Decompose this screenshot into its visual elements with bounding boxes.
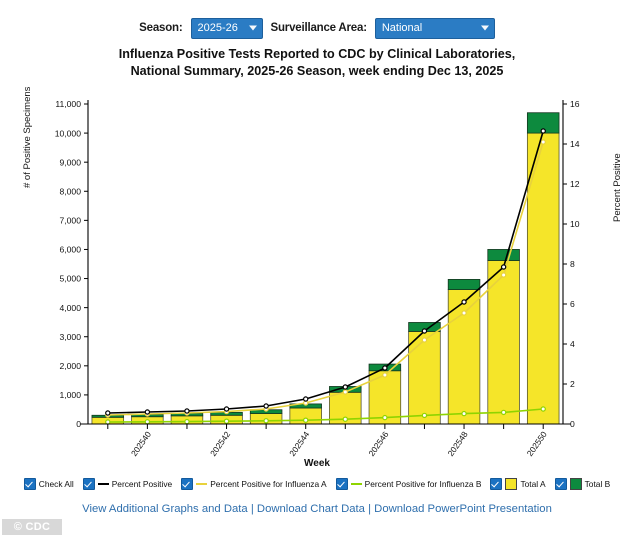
legend-item-total-a[interactable]: Total A [490, 478, 545, 490]
cdc-watermark-text: © CDC [14, 521, 51, 533]
download-powerpoint-link[interactable]: Download PowerPoint Presentation [374, 503, 552, 515]
legend-line-swatch [98, 483, 109, 485]
influenza-b-percent-line-point [224, 419, 228, 423]
legend-item-percent-positive-for-influenza-b[interactable]: Percent Positive for Influenza B [336, 478, 482, 490]
legend-checkbox[interactable] [181, 478, 193, 490]
legend-item-label: Percent Positive for Influenza B [365, 479, 482, 489]
influenza-b-percent-line-point [422, 413, 426, 417]
legend-item-check-all[interactable]: Check All [24, 478, 74, 490]
influenza-a-percent-line-point [422, 338, 426, 342]
influenza-a-percent-line-point [502, 273, 506, 277]
percent-positive-line-point [185, 409, 189, 413]
bar-group-202550[interactable] [527, 113, 559, 424]
percent-positive-line-point [145, 410, 149, 414]
x-axis-tick-label: 202542 [208, 429, 232, 458]
y-axis-right-title: Percent Positive [612, 153, 623, 222]
influenza-b-percent-line-point [185, 420, 189, 424]
influenza-b-percent-line-point [343, 417, 347, 421]
influenza-b-percent-line-point [304, 418, 308, 422]
y-axis-left-tick-label: 7,000 [59, 216, 81, 226]
legend-item-total-b[interactable]: Total B [555, 478, 611, 490]
download-chart-data-link[interactable]: Download Chart Data [257, 503, 365, 515]
y-axis-right-tick-label: 14 [570, 139, 580, 149]
chart-legend: Check AllPercent PositivePercent Positiv… [0, 478, 634, 490]
legend-item-label: Check All [39, 479, 74, 489]
y-axis-left-tick-label: 9,000 [59, 157, 81, 167]
y-axis-right-tick-label: 12 [570, 179, 580, 189]
legend-checkbox[interactable] [490, 478, 502, 490]
percent-positive-line-point [264, 404, 268, 408]
influenza-a-percent-line-point [462, 311, 466, 315]
x-axis-title: Week [0, 458, 634, 469]
y-axis-left-tick-label: 11,000 [55, 99, 81, 109]
influenza-b-percent-line-point [462, 412, 466, 416]
influenza-b-percent-line-point [502, 410, 506, 414]
percent-positive-line-point [224, 407, 228, 411]
cdc-watermark: © CDC [2, 519, 62, 535]
y-axis-right-tick-label: 16 [570, 99, 580, 109]
y-axis-right-tick-label: 6 [570, 299, 575, 309]
percent-positive-line-point [502, 265, 506, 269]
y-axis-right-tick-label: 0 [570, 419, 575, 429]
legend-item-label: Total B [585, 479, 611, 489]
legend-item-percent-positive-for-influenza-a[interactable]: Percent Positive for Influenza A [181, 478, 326, 490]
legend-item-percent-positive[interactable]: Percent Positive [83, 478, 173, 490]
legend-checkbox[interactable] [83, 478, 95, 490]
influenza-b-percent-line-point [145, 420, 149, 424]
y-axis-left-tick-label: 3,000 [59, 332, 81, 342]
legend-checkbox[interactable] [336, 478, 348, 490]
y-axis-right-tick-label: 8 [570, 259, 575, 269]
legend-item-label: Total A [520, 479, 545, 489]
y-axis-right-tick-label: 2 [570, 379, 575, 389]
percent-positive-line-point [106, 411, 110, 415]
legend-item-label: Percent Positive [112, 479, 173, 489]
percent-positive-line-point [462, 300, 466, 304]
legend-checkbox[interactable] [555, 478, 567, 490]
y-axis-left-tick-label: 10,000 [55, 128, 82, 138]
percent-positive-line-point [541, 129, 545, 133]
view-additional-graphs-link[interactable]: View Additional Graphs and Data [82, 503, 248, 515]
y-axis-left-tick-label: 8,000 [59, 186, 81, 196]
y-axis-left-tick-label: 0 [76, 419, 81, 429]
x-axis-tick-label: 202546 [366, 429, 390, 458]
y-axis-right-tick-label: 10 [570, 219, 580, 229]
percent-positive-line-point [343, 385, 347, 389]
legend-color-swatch [570, 478, 582, 490]
influenza-b-percent-line-point [383, 416, 387, 420]
y-axis-left-tick-label: 1,000 [59, 390, 81, 400]
percent-positive-line-point [422, 329, 426, 333]
x-axis-tick-label: 202544 [287, 429, 311, 458]
y-axis-left-tick-label: 6,000 [59, 245, 81, 255]
percent-positive-line-point [383, 366, 387, 370]
y-axis-left-title: # of Positive Specimens [22, 87, 33, 188]
x-axis-tick-label: 202540 [129, 429, 153, 458]
link-separator-2: | [368, 503, 371, 515]
x-axis-tick-label: 202550 [525, 429, 549, 458]
legend-line-swatch [351, 483, 362, 485]
influenza-b-percent-line-point [541, 407, 545, 411]
footer-links: View Additional Graphs and Data | Downlo… [0, 503, 634, 515]
y-axis-left-tick-label: 2,000 [59, 361, 81, 371]
y-axis-left-tick-label: 4,000 [59, 303, 81, 313]
y-axis-right-tick-label: 4 [570, 339, 575, 349]
influenza-a-percent-line-point [383, 373, 387, 377]
influenza-a-percent-line-point [541, 140, 545, 144]
legend-item-label: Percent Positive for Influenza A [210, 479, 326, 489]
y-axis-left-tick-label: 5,000 [59, 274, 81, 284]
influenza-a-percent-line-point [343, 390, 347, 394]
legend-line-swatch [196, 483, 207, 485]
legend-checkbox[interactable] [24, 478, 36, 490]
legend-color-swatch [505, 478, 517, 490]
x-axis-tick-label: 202548 [445, 429, 469, 458]
percent-positive-line-point [304, 397, 308, 401]
influenza-b-percent-line-point [264, 419, 268, 423]
link-separator-1: | [251, 503, 254, 515]
